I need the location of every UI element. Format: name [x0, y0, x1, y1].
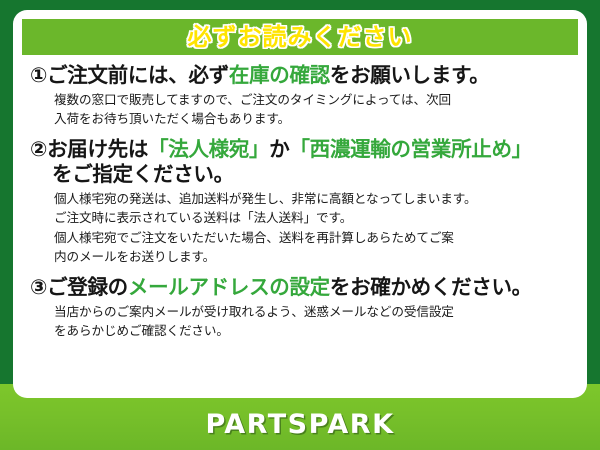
footer-brand-area: PARTSPARK: [0, 398, 600, 450]
brand-logo-text: PARTSPARK: [205, 411, 394, 438]
notice-item-2-note: 個人様宅宛の発送は、追加送料が発生し、非常に高額となってしまいます。 ご注文時に…: [30, 187, 572, 266]
notice-body: ①ご注文前には、必ず在庫の確認をお願いします。 複数の窓口で販売してますので、ご…: [22, 62, 578, 394]
notice-item-1-text-b: をお願いします。: [330, 63, 490, 87]
notice-item-2-heading: ②お届け先は「法人様宛」か「西濃運輸の営業所止め」: [30, 137, 572, 162]
note-line: 入荷をお待ち頂いただく場合もあります。: [54, 109, 572, 128]
note-line: 個人様宅宛の発送は、追加送料が発生し、非常に高額となってしまいます。: [54, 189, 572, 208]
notice-item-2-heading-continuation: をご指定ください。: [30, 162, 572, 187]
note-line: 個人様宅宛でご注文をいただいた場合、送料を再計算しあらためてご案: [54, 228, 572, 247]
header-bar: 必ずお読みください: [22, 19, 578, 55]
notice-item-1-marker: ①: [30, 63, 47, 87]
notice-item-2-marker: ②: [30, 137, 47, 161]
notice-item-3-heading: ③ご登録のメールアドレスの設定をお確かめください。: [30, 275, 572, 300]
notice-item-1-note: 複数の窓口で販売してますので、ご注文のタイミングによっては、次回 入荷をお待ち頂…: [30, 88, 572, 128]
notice-item-1-accent: 在庫の確認: [229, 63, 330, 87]
notice-item-1-text-a: ご注文前には、必ず: [47, 63, 229, 87]
note-line: ご注文時に表示されている送料は「法人送料」です。: [54, 208, 572, 227]
notice-item-1: ①ご注文前には、必ず在庫の確認をお願いします。 複数の窓口で販売してますので、ご…: [30, 63, 572, 128]
notice-frame: 必ずお読みください ①ご注文前には、必ず在庫の確認をお願いします。 複数の窓口で…: [0, 0, 600, 450]
notice-item-2: ②お届け先は「法人様宛」か「西濃運輸の営業所止め」 をご指定ください。 個人様宅…: [30, 137, 572, 266]
notice-item-2-text-a: お届け先は: [47, 137, 148, 161]
note-line: 当店からのご案内メールが受け取れるよう、迷惑メールなどの受信設定: [54, 302, 572, 321]
notice-panel: 必ずお読みください ①ご注文前には、必ず在庫の確認をお願いします。 複数の窓口で…: [13, 10, 587, 398]
notice-item-3-accent: メールアドレスの設定: [128, 275, 330, 299]
note-line: 複数の窓口で販売してますので、ご注文のタイミングによっては、次回: [54, 90, 572, 109]
note-line: をあらかじめご確認ください。: [54, 321, 572, 340]
page-title: 必ずお読みください: [188, 25, 413, 49]
notice-item-2-text-b: か: [269, 137, 289, 161]
notice-item-3-text-b: をお確かめください。: [330, 275, 532, 299]
notice-item-1-heading: ①ご注文前には、必ず在庫の確認をお願いします。: [30, 63, 572, 88]
notice-item-3: ③ご登録のメールアドレスの設定をお確かめください。 当店からのご案内メールが受け…: [30, 275, 572, 340]
notice-item-3-text-a: ご登録の: [47, 275, 128, 299]
note-line: 内のメールをお送りします。: [54, 247, 572, 266]
notice-item-2-accent-1: 「法人様宛」: [148, 137, 269, 161]
notice-item-2-accent-2: 「西濃運輸の営業所止め」: [289, 137, 531, 161]
notice-item-3-note: 当店からのご案内メールが受け取れるよう、迷惑メールなどの受信設定 をあらかじめご…: [30, 300, 572, 340]
notice-item-3-marker: ③: [30, 275, 47, 299]
